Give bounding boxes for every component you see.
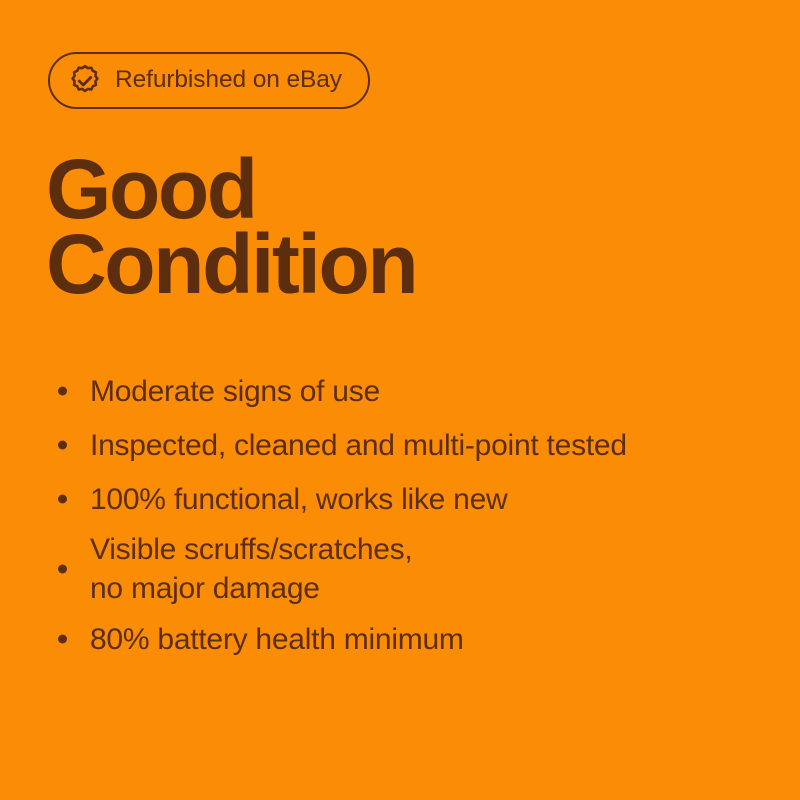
list-item-label: 80% battery health minimum <box>90 620 464 659</box>
page-title-line-1: Good <box>46 152 416 227</box>
list-item: Moderate signs of use <box>56 364 776 418</box>
refurbished-badge: Refurbished on eBay <box>48 52 370 109</box>
list-item: 100% functional, works like new <box>56 472 776 526</box>
list-item-label: Visible scruffs/scratches, no major dama… <box>90 530 413 608</box>
page-title-line-2: Condition <box>46 227 416 302</box>
verified-rosette-check-icon <box>68 64 102 98</box>
condition-feature-list: Moderate signs of use Inspected, cleaned… <box>56 364 776 666</box>
refurbished-badge-label: Refurbished on eBay <box>115 68 342 93</box>
bullet-marker-icon <box>58 495 67 504</box>
list-item: Visible scruffs/scratches, no major dama… <box>56 526 776 612</box>
bullet-marker-icon <box>58 387 67 396</box>
list-item-label: 100% functional, works like new <box>90 480 507 519</box>
page-title: Good Condition <box>46 152 416 302</box>
bullet-marker-icon <box>58 441 67 450</box>
bullet-marker-icon <box>58 635 67 644</box>
refurbished-condition-card: Refurbished on eBay Good Condition Moder… <box>0 0 800 800</box>
list-item: Inspected, cleaned and multi-point teste… <box>56 418 776 472</box>
list-item: 80% battery health minimum <box>56 612 776 666</box>
bullet-marker-icon <box>58 565 67 574</box>
list-item-label: Moderate signs of use <box>90 372 380 411</box>
list-item-label: Inspected, cleaned and multi-point teste… <box>90 426 627 465</box>
